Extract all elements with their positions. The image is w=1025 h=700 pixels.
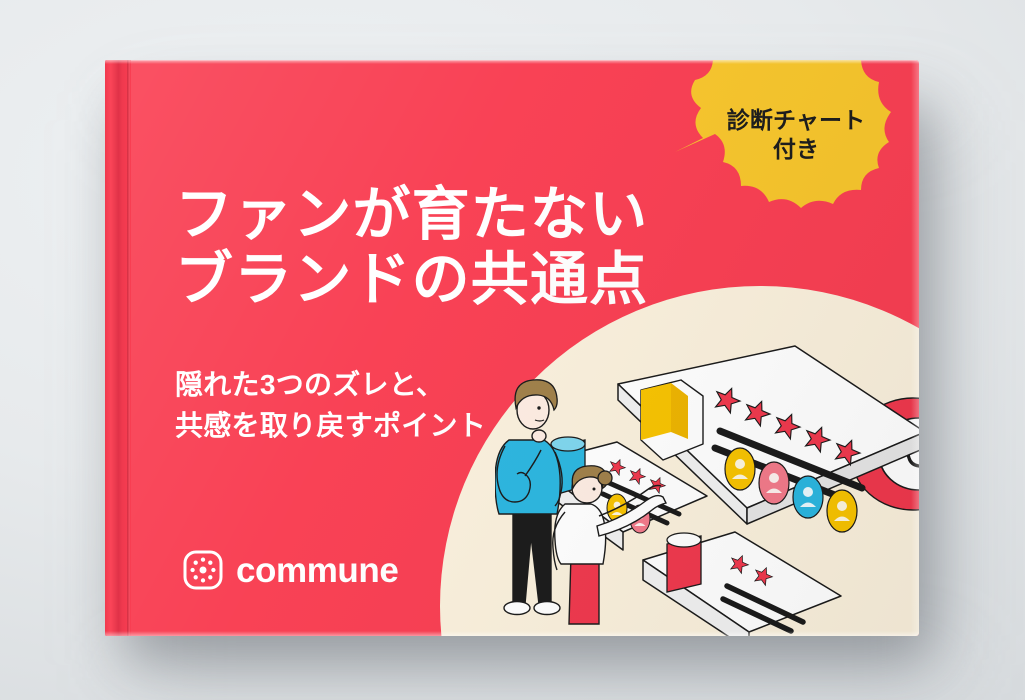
page-title: ファンが育たない ブランドの共通点 bbox=[175, 183, 648, 313]
book-spine bbox=[105, 60, 131, 636]
subhead-line-1: 隠れた3つのズレと、 bbox=[175, 365, 486, 406]
book-cover[interactable]: ファンが育たない ブランドの共通点 隠れた3つのズレと、 共感を取り戻すポイント bbox=[105, 60, 919, 636]
headline-line-2: ブランドの共通点 bbox=[175, 248, 648, 313]
lower-review-card bbox=[643, 532, 841, 636]
badge-line-2: 付き bbox=[673, 135, 919, 164]
standing-man bbox=[495, 380, 562, 615]
red-cylinder bbox=[667, 533, 701, 592]
badge-line-1: 診断チャート bbox=[673, 106, 919, 135]
book-spine-groove bbox=[127, 60, 130, 636]
subhead-line-2: 共感を取り戻すポイント bbox=[175, 406, 486, 447]
commune-logo-text: commune bbox=[236, 553, 398, 588]
yellow-book-block bbox=[641, 380, 703, 460]
badge-text: 診断チャート 付き bbox=[673, 106, 919, 165]
commune-dotted-ring-icon bbox=[183, 550, 223, 590]
status-badge: 診断チャート 付き bbox=[673, 60, 919, 264]
headline-line-1: ファンが育たない bbox=[175, 183, 648, 248]
isometric-review-dashboard-illustration bbox=[495, 336, 919, 636]
commune-logo[interactable]: commune bbox=[183, 550, 398, 590]
page-subtitle: 隠れた3つのズレと、 共感を取り戻すポイント bbox=[175, 365, 486, 446]
cover-scene: ファンが育たない ブランドの共通点 隠れた3つのズレと、 共感を取り戻すポイント bbox=[0, 0, 1025, 700]
